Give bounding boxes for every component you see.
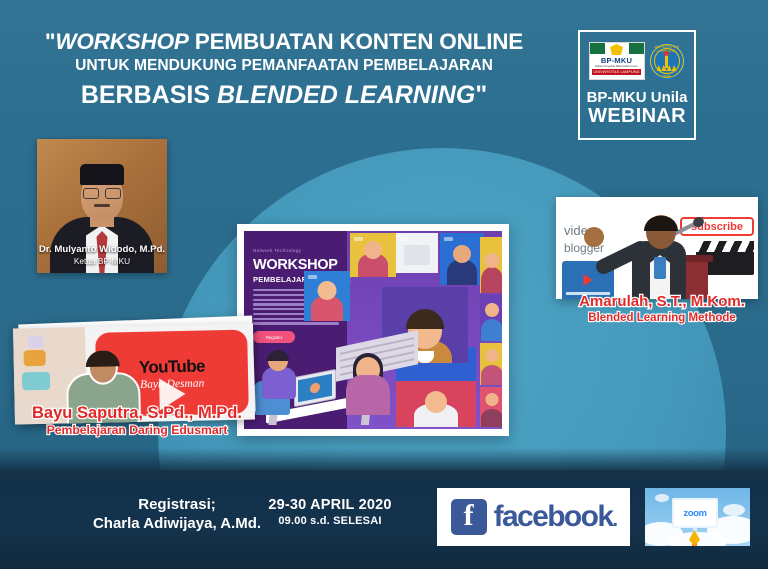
unila-tower-icon: [665, 54, 668, 68]
tile-label: [308, 275, 317, 279]
speaker-2-card: YouTube Bayu Desman Bayu Saputra, S.Pd.,…: [14, 320, 260, 438]
illustration-eyebrow: Network Technology: [253, 248, 301, 253]
bpmku-logo-university-band: UNIVERSITAS LAMPUNG: [592, 69, 641, 75]
zoom-logo-box[interactable]: zoom: [645, 488, 750, 546]
headline-open-quote: ": [45, 29, 55, 54]
zoom-wordmark: zoom: [683, 508, 706, 519]
headline-line-1: "WORKSHOP PEMBUATAN KONTEN ONLINE: [0, 30, 568, 54]
central-illustration: Network Technology WORKSHOP PEMBELAJARAN…: [237, 224, 509, 436]
tile-label: [400, 237, 409, 241]
facebook-wordmark-text: facebook: [494, 500, 613, 533]
speaker-3-photo: video blogger subscribe: [556, 197, 758, 299]
poster-headline: "WORKSHOP PEMBUATAN KONTEN ONLINE UNTUK …: [0, 30, 568, 109]
headline-workshop-word: WORKSHOP: [55, 29, 188, 54]
speaker-2-name: Bayu Saputra, S.Pd., M.Pd.: [14, 404, 260, 423]
logo-caption-line-2: WEBINAR: [588, 106, 686, 127]
video-tile: [440, 233, 484, 285]
event-time: 09.00 s.d. SELESAI: [240, 514, 420, 528]
tile-head: [364, 241, 382, 259]
speaker-2-caption: Bayu Saputra, S.Pd., M.Pd. Pembelajaran …: [14, 404, 260, 438]
tile-person: [481, 267, 502, 293]
bpmku-logo-name: BP-MKU: [601, 56, 632, 65]
logo-caption-line-1: BP-MKU Unila: [587, 90, 688, 106]
event-datetime-block: 29-30 APRIL 2020 09.00 s.d. SELESAI: [240, 497, 420, 528]
front-woman-body: [346, 375, 390, 415]
tile-person: [481, 319, 502, 341]
tile-person: [481, 409, 502, 427]
speaker-1-caption: Dr. Mulyanto Widodo, M.Pd. Ketua BP-MKU: [37, 244, 167, 267]
video-tile: [350, 233, 396, 277]
tile-head: [453, 245, 471, 263]
youtube-channel-title: YouTube: [139, 356, 205, 377]
tile-label: [444, 237, 453, 241]
lanyard-icon: [654, 257, 666, 279]
speaker-1-name: Dr. Mulyanto Widodo, M.Pd.: [37, 244, 167, 256]
logo-box: BP-MKU Badan Pengelola Mata Kuliah Umum …: [578, 30, 696, 140]
speaker-3-name: Amarulah, S.T., M.Kom.: [556, 293, 768, 311]
video-tile: [396, 381, 476, 427]
video-tile: [480, 343, 502, 385]
video-tile: [480, 237, 502, 293]
illustration-seated-man: [258, 355, 298, 407]
speaker-3-role: Blended Learning Methode: [556, 311, 768, 325]
facebook-logo-box[interactable]: facebook.: [437, 488, 630, 546]
video-tile: [396, 233, 438, 273]
illustration-front-woman: [344, 353, 392, 415]
headline-line-3: BERBASIS BLENDED LEARNING": [0, 81, 568, 109]
speaker-3-hair: [644, 216, 678, 231]
tile-head: [318, 281, 337, 300]
tile-screen: [404, 245, 430, 265]
speaker-3-hand: [584, 227, 604, 247]
video-tile: [304, 271, 350, 321]
tile-label: [354, 237, 363, 241]
speaker-3-card: video blogger subscribe Amarulah, S.T., …: [556, 197, 768, 329]
seated-man-body: [262, 367, 296, 399]
video-tile: [480, 387, 502, 427]
featured-person-hair: [406, 309, 444, 329]
tile-head: [486, 393, 499, 406]
facebook-wordmark: facebook.: [494, 500, 617, 534]
decor-shape: [27, 336, 43, 348]
glasses-icon: [83, 188, 121, 197]
headline-berbasis-word: BERBASIS: [81, 81, 217, 109]
speaker-3-portrait: [598, 203, 716, 299]
laptop-screen-avatar: [310, 382, 320, 394]
speaker-2-role: Pembelajaran Daring Edusmart: [14, 423, 260, 438]
facebook-icon: [451, 499, 487, 535]
speaker-3-caption: Amarulah, S.T., M.Kom. Blended Learning …: [556, 293, 768, 325]
speaker-1-photo: Dr. Mulyanto Widodo, M.Pd. Ketua BP-MKU: [37, 139, 167, 273]
laptop-screen: [298, 374, 332, 403]
tile-head: [485, 253, 500, 268]
cloud-icon: [655, 494, 669, 502]
bpmku-logo-icon: BP-MKU Badan Pengelola Mata Kuliah Umum …: [589, 42, 645, 80]
tile-head: [485, 303, 499, 317]
facebook-wordmark-dot: .: [612, 509, 616, 531]
logo-row: BP-MKU Badan Pengelola Mata Kuliah Umum …: [589, 41, 686, 81]
tile-head: [425, 391, 447, 413]
tile-person: [481, 365, 502, 385]
decor-shape: [22, 372, 50, 391]
speaker-1-moustache: [94, 204, 110, 207]
speaker-2-hair: [86, 350, 120, 367]
headline-line-2: UNTUK MENDUKUNG PEMANFAATAN PEMBELAJARAN: [0, 56, 568, 75]
decor-shape: [23, 350, 45, 366]
unila-emblem-icon: UNIVERSITAS LAMPUNG Unila: [648, 42, 686, 80]
headline-close-quote: ": [475, 81, 487, 109]
webinar-poster: "WORKSHOP PEMBUATAN KONTEN ONLINE UNTUK …: [0, 0, 768, 569]
video-tile: [480, 295, 502, 341]
tile-head: [486, 349, 499, 362]
peci-hat-icon: [80, 164, 124, 185]
zoom-screen: zoom: [672, 498, 718, 528]
cloud-icon: [723, 504, 745, 516]
headline-line-1-rest: PEMBUATAN KONTEN ONLINE: [189, 29, 523, 54]
bpmku-logo-subtitle: Badan Pengelola Mata Kuliah Umum: [590, 65, 644, 68]
event-date: 29-30 APRIL 2020: [240, 497, 420, 514]
unila-bottom-text: Unila: [648, 74, 686, 78]
illustration-canvas: Network Technology WORKSHOP PEMBELAJARAN…: [244, 231, 502, 429]
headline-blended-learning-word: BLENDED LEARNING: [217, 81, 475, 109]
speaker-1-role: Ketua BP-MKU: [37, 256, 167, 267]
